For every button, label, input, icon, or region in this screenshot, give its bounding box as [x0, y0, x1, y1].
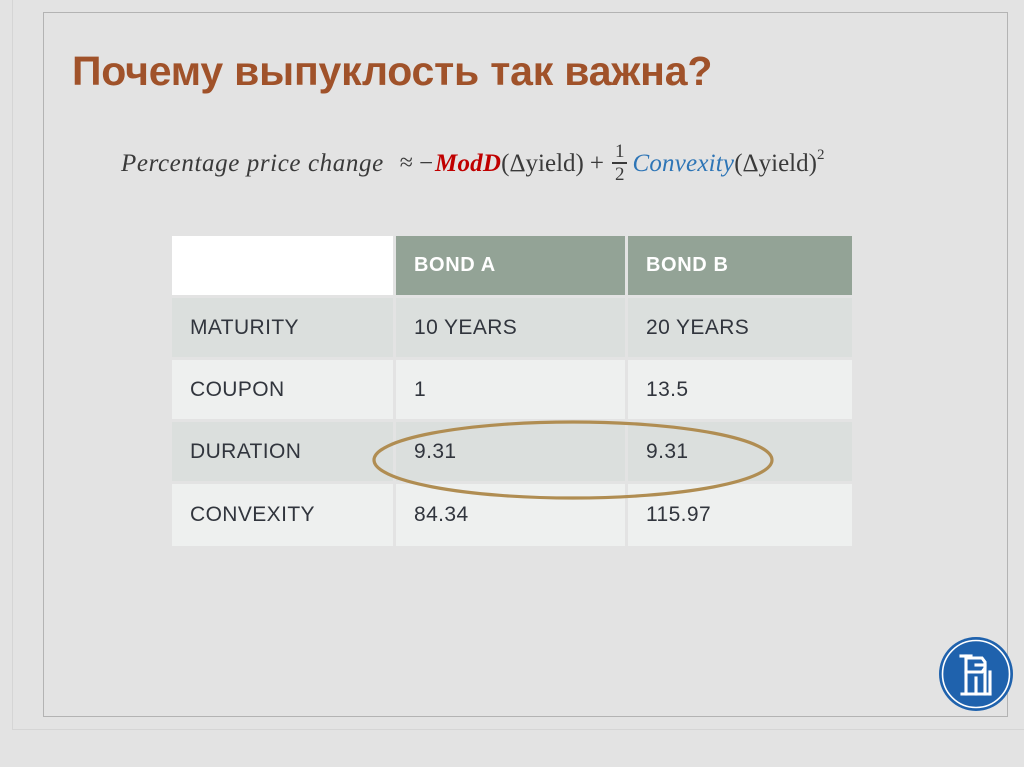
row-label-coupon: COUPON	[172, 360, 396, 422]
fraction-numerator: 1	[612, 142, 628, 162]
formula-minus-symbol: −	[419, 150, 435, 178]
formula-delta-yield-second: (Δyield)	[734, 150, 817, 178]
slide: Почему выпуклость так важна? Percentage …	[0, 0, 1024, 767]
table-row: CONVEXITY 84.34 115.97	[172, 484, 852, 546]
logo-circle	[939, 637, 1013, 711]
formula-convexity-term: Convexity	[629, 150, 734, 178]
bond-comparison-table: BOND A BOND B MATURITY 10 YEARS 20 YEARS…	[172, 236, 852, 546]
table-row: DURATION 9.31 9.31	[172, 422, 852, 484]
formula-lead-text: Percentage price change	[121, 150, 384, 178]
formula-delta-yield-first: (Δyield)	[501, 150, 584, 178]
formula-exponent: 2	[817, 147, 825, 164]
column-header-bond-b: BOND B	[628, 236, 852, 298]
column-header-bond-a: BOND A	[396, 236, 628, 298]
formula-one-half-fraction: 1 2	[612, 142, 628, 184]
row-label-maturity: MATURITY	[172, 298, 396, 360]
table-corner-cell	[172, 236, 396, 298]
table-header: BOND A BOND B	[172, 236, 852, 298]
hse-logo	[938, 636, 1014, 712]
cell-maturity-bond-a: 10 YEARS	[396, 298, 628, 360]
cell-duration-bond-a: 9.31	[396, 422, 628, 484]
cell-maturity-bond-b: 20 YEARS	[628, 298, 852, 360]
cell-coupon-bond-a: 1	[396, 360, 628, 422]
formula-approx-symbol: ≈	[384, 150, 419, 177]
table-body: MATURITY 10 YEARS 20 YEARS COUPON 1 13.5…	[172, 298, 852, 546]
table-row: COUPON 1 13.5	[172, 360, 852, 422]
cell-coupon-bond-b: 13.5	[628, 360, 852, 422]
formula-mod-duration-term: ModD	[435, 150, 501, 178]
convexity-formula: Percentage price change ≈ − ModD (Δyield…	[121, 143, 824, 185]
row-label-convexity: CONVEXITY	[172, 484, 396, 546]
cell-duration-bond-b: 9.31	[628, 422, 852, 484]
table-row: MATURITY 10 YEARS 20 YEARS	[172, 298, 852, 360]
table-header-row: BOND A BOND B	[172, 236, 852, 298]
fraction-denominator: 2	[612, 164, 628, 184]
cell-convexity-bond-b: 115.97	[628, 484, 852, 546]
row-label-duration: DURATION	[172, 422, 396, 484]
cell-convexity-bond-a: 84.34	[396, 484, 628, 546]
page-title: Почему выпуклость так важна?	[72, 48, 972, 95]
formula-plus-symbol: +	[584, 150, 610, 178]
